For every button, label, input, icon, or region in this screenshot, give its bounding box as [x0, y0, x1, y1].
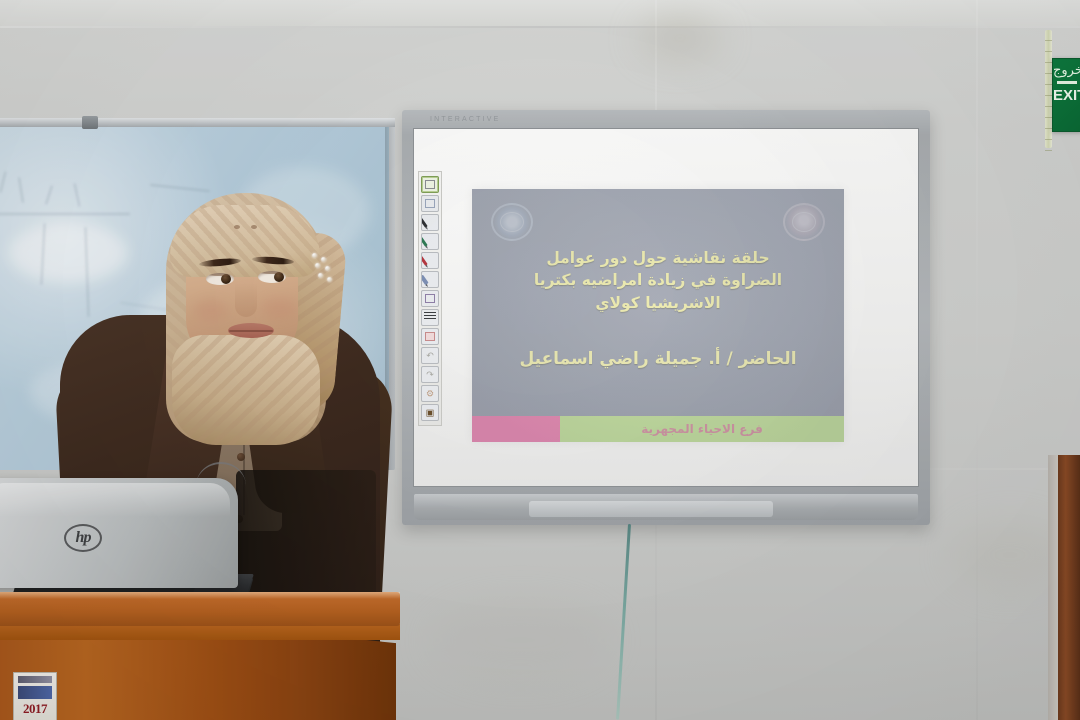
photo-scene: خروج EXIT INTERACTIVE — [0, 0, 1080, 720]
presentation-slide: حلقة نقاشية حول دور عوامل الضراوة في زيا… — [472, 189, 844, 442]
wall-seam-vertical-b — [976, 0, 978, 720]
cheek-shading-right — [262, 297, 296, 319]
poster-line-upper — [18, 676, 52, 683]
whiteboard-top-rail — [0, 118, 395, 127]
select-tool-icon[interactable] — [421, 176, 439, 193]
black-pen-tool-icon[interactable] — [421, 214, 439, 231]
slide-footer-text: فرع الاحياء المجهرية — [641, 422, 763, 436]
wall-seam-top — [0, 26, 1080, 28]
slide-title-line-3: الاشريشيا كولاي — [488, 292, 828, 314]
iwb-toolbar[interactable]: ↶ ↷ ⚙ ▣ — [418, 171, 442, 426]
interactive-whiteboard[interactable]: INTERACTIVE ↶ ↷ ⚙ ▣ — [402, 110, 930, 525]
green-pen-tool-icon[interactable] — [421, 233, 439, 250]
slide-title-line-1: حلقة نقاشية حول دور عوامل — [488, 247, 828, 269]
page-tool-icon[interactable] — [421, 195, 439, 212]
slide-footer-bar: فرع الاحياء المجهرية — [472, 416, 844, 442]
redo-tool-icon[interactable]: ↷ — [421, 366, 439, 383]
eye-right — [258, 271, 286, 283]
slide-title-line-2: الضراوة في زيادة امراضيه بكتريا — [488, 269, 828, 291]
hp-logo-icon: hp — [64, 524, 102, 552]
hijab-front-band — [170, 205, 320, 277]
ministry-emblem-right-icon — [783, 203, 825, 241]
wooden-door-edge — [1058, 455, 1080, 720]
slide-title: حلقة نقاشية حول دور عوامل الضراوة في زيا… — [488, 247, 828, 314]
year-poster: 2017 — [13, 672, 57, 720]
slide-footer-green-block: فرع الاحياء المجهرية — [560, 416, 844, 442]
red-pen-tool-icon[interactable] — [421, 252, 439, 269]
hijab-chin-wrap — [172, 335, 320, 445]
slide-presenter-line: الحاضر / أ. جميلة راضي اسماعيل — [482, 349, 834, 369]
nose — [235, 283, 257, 317]
eraser-tool-icon[interactable] — [421, 328, 439, 345]
lectern-top-surface — [0, 592, 400, 626]
shape-tool-icon[interactable] — [421, 290, 439, 307]
iwb-pen-tray[interactable] — [414, 494, 918, 520]
wall-stain-a — [640, 18, 720, 58]
poster-year-label: 2017 — [14, 702, 56, 715]
door-jamb — [1048, 455, 1058, 720]
cheek-shading-left — [194, 299, 228, 321]
slide-footer-pink-block — [472, 416, 560, 442]
nostril-right — [251, 225, 257, 229]
exit-sign-english-label: EXIT — [1053, 88, 1080, 103]
podium-shadow-gap — [236, 470, 376, 610]
exit-sign-arabic-label: خروج — [1053, 59, 1080, 77]
laptop-lid: hp — [0, 478, 238, 588]
exit-sign-divider — [1057, 81, 1077, 84]
settings-tool-icon[interactable]: ⚙ — [421, 385, 439, 402]
eye-left — [206, 273, 234, 285]
wooden-lectern — [0, 592, 400, 720]
sign-mount-rail — [1045, 30, 1052, 148]
undo-tool-icon[interactable]: ↶ — [421, 347, 439, 364]
exit-sign: خروج EXIT — [1052, 58, 1080, 132]
nostril-left — [234, 225, 240, 229]
lectern-side-panel — [290, 632, 396, 720]
iwb-brand-label: INTERACTIVE — [430, 116, 500, 123]
lines-tool-icon[interactable] — [421, 309, 439, 326]
wall-stain-c — [430, 600, 610, 680]
lectern-lip — [0, 624, 400, 640]
lip-line — [229, 330, 273, 332]
university-emblem-left-icon — [491, 203, 533, 241]
save-tool-icon[interactable]: ▣ — [421, 404, 439, 421]
highlighter-tool-icon[interactable] — [421, 271, 439, 288]
hp-laptop: hp — [0, 478, 252, 608]
ceiling-strip — [0, 0, 1080, 26]
hijab-decoration-pins — [310, 253, 334, 281]
poster-line-lower — [18, 686, 52, 699]
whiteboard-clip — [82, 116, 98, 129]
iwb-projection-screen[interactable]: ↶ ↷ ⚙ ▣ حلقة نقاشية حول دور عوامل الضراو… — [413, 128, 919, 487]
blazer-button-upper — [237, 453, 245, 461]
laptop-lid-sheen — [0, 483, 230, 517]
